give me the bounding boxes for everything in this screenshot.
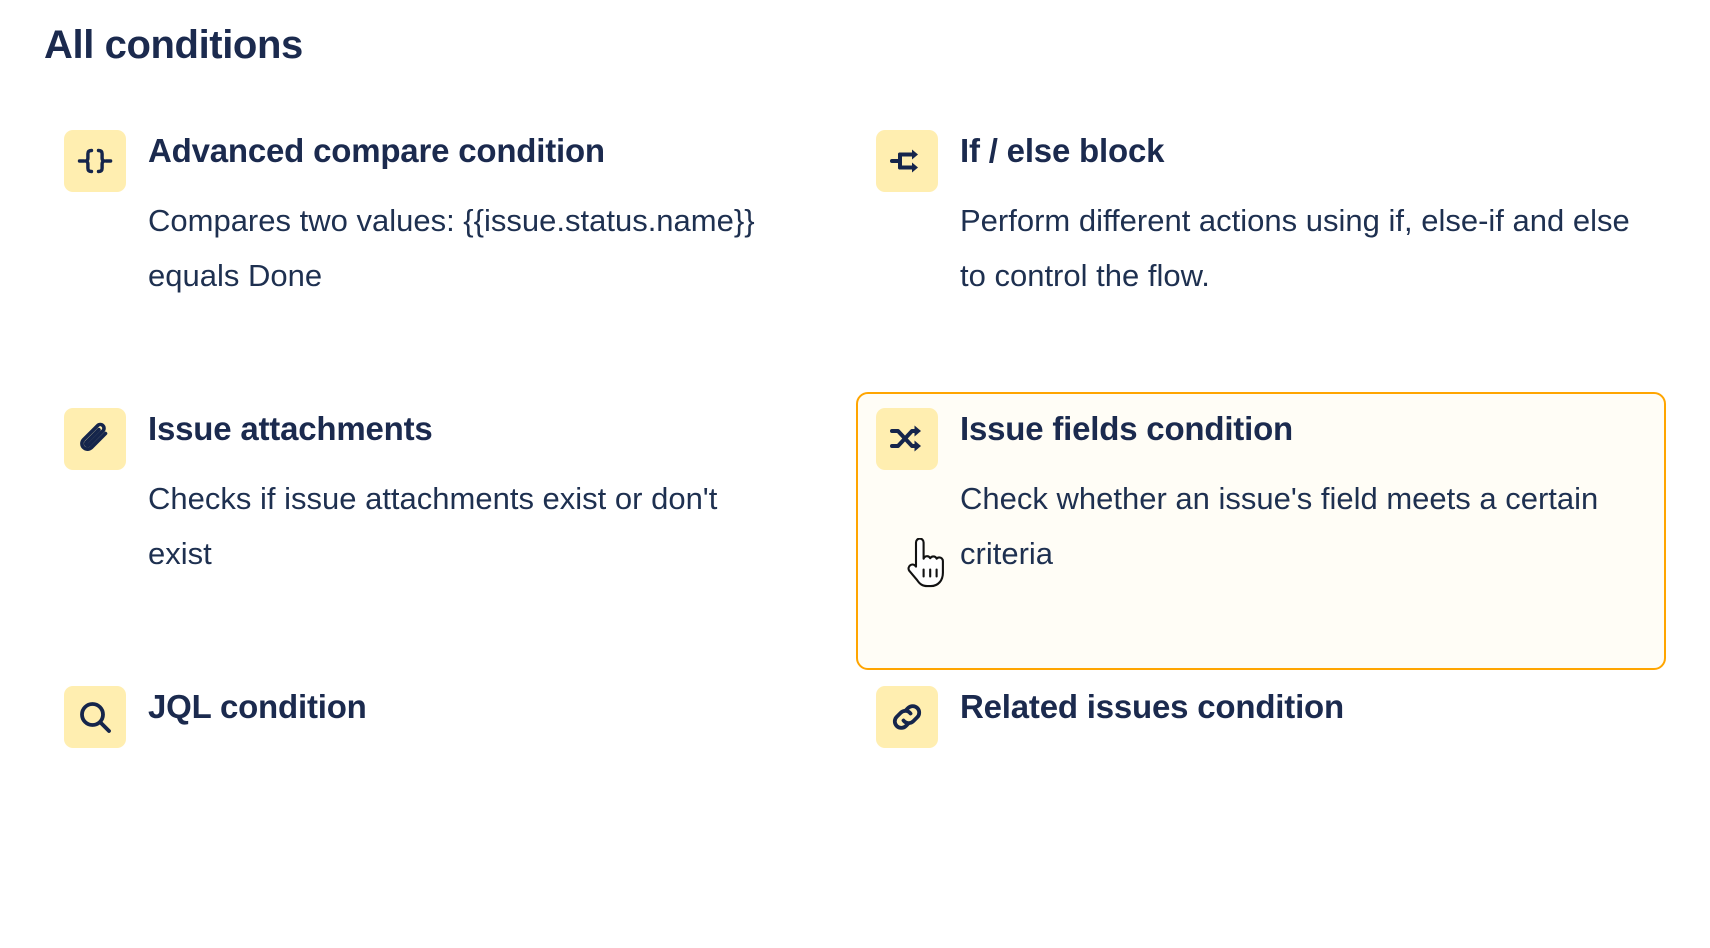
condition-title: Issue attachments: [148, 408, 764, 449]
condition-card-if-else-block[interactable]: If / else block Perform different action…: [856, 114, 1666, 392]
condition-title: Advanced compare condition: [148, 130, 764, 171]
curly-braces-icon: [64, 130, 126, 192]
card-body: JQL condition: [148, 684, 764, 749]
condition-description: Checks if issue attachments exist or don…: [148, 471, 764, 581]
card-body: If / else block Perform different action…: [960, 128, 1646, 304]
condition-description: Perform different actions using if, else…: [960, 193, 1646, 303]
condition-title: Issue fields condition: [960, 408, 1646, 449]
card-body: Issue fields condition Check whether an …: [960, 406, 1646, 582]
card-body: Related issues condition: [960, 684, 1646, 749]
condition-card-related-issues[interactable]: Related issues condition: [856, 670, 1666, 948]
magnifier-icon: [64, 686, 126, 748]
all-conditions-panel: All conditions Advanced compare conditio…: [0, 0, 1710, 714]
condition-title: If / else block: [960, 130, 1646, 171]
page-title: All conditions: [44, 22, 1670, 68]
card-body: Advanced compare condition Compares two …: [148, 128, 764, 304]
condition-description: Compares two values: {{issue.status.name…: [148, 193, 764, 303]
condition-card-advanced-compare[interactable]: Advanced compare condition Compares two …: [44, 114, 784, 392]
condition-description: Check whether an issue's field meets a c…: [960, 471, 1646, 581]
conditions-grid: Advanced compare condition Compares two …: [44, 114, 1670, 948]
shuffle-arrows-icon: [876, 408, 938, 470]
paperclip-icon: [64, 408, 126, 470]
branch-fork-icon: [876, 130, 938, 192]
condition-card-issue-fields[interactable]: Issue fields condition Check whether an …: [856, 392, 1666, 670]
condition-card-issue-attachments[interactable]: Issue attachments Checks if issue attach…: [44, 392, 784, 670]
condition-title: Related issues condition: [960, 686, 1646, 727]
condition-card-jql[interactable]: JQL condition: [44, 670, 784, 948]
link-icon: [876, 686, 938, 748]
card-body: Issue attachments Checks if issue attach…: [148, 406, 764, 582]
condition-title: JQL condition: [148, 686, 764, 727]
